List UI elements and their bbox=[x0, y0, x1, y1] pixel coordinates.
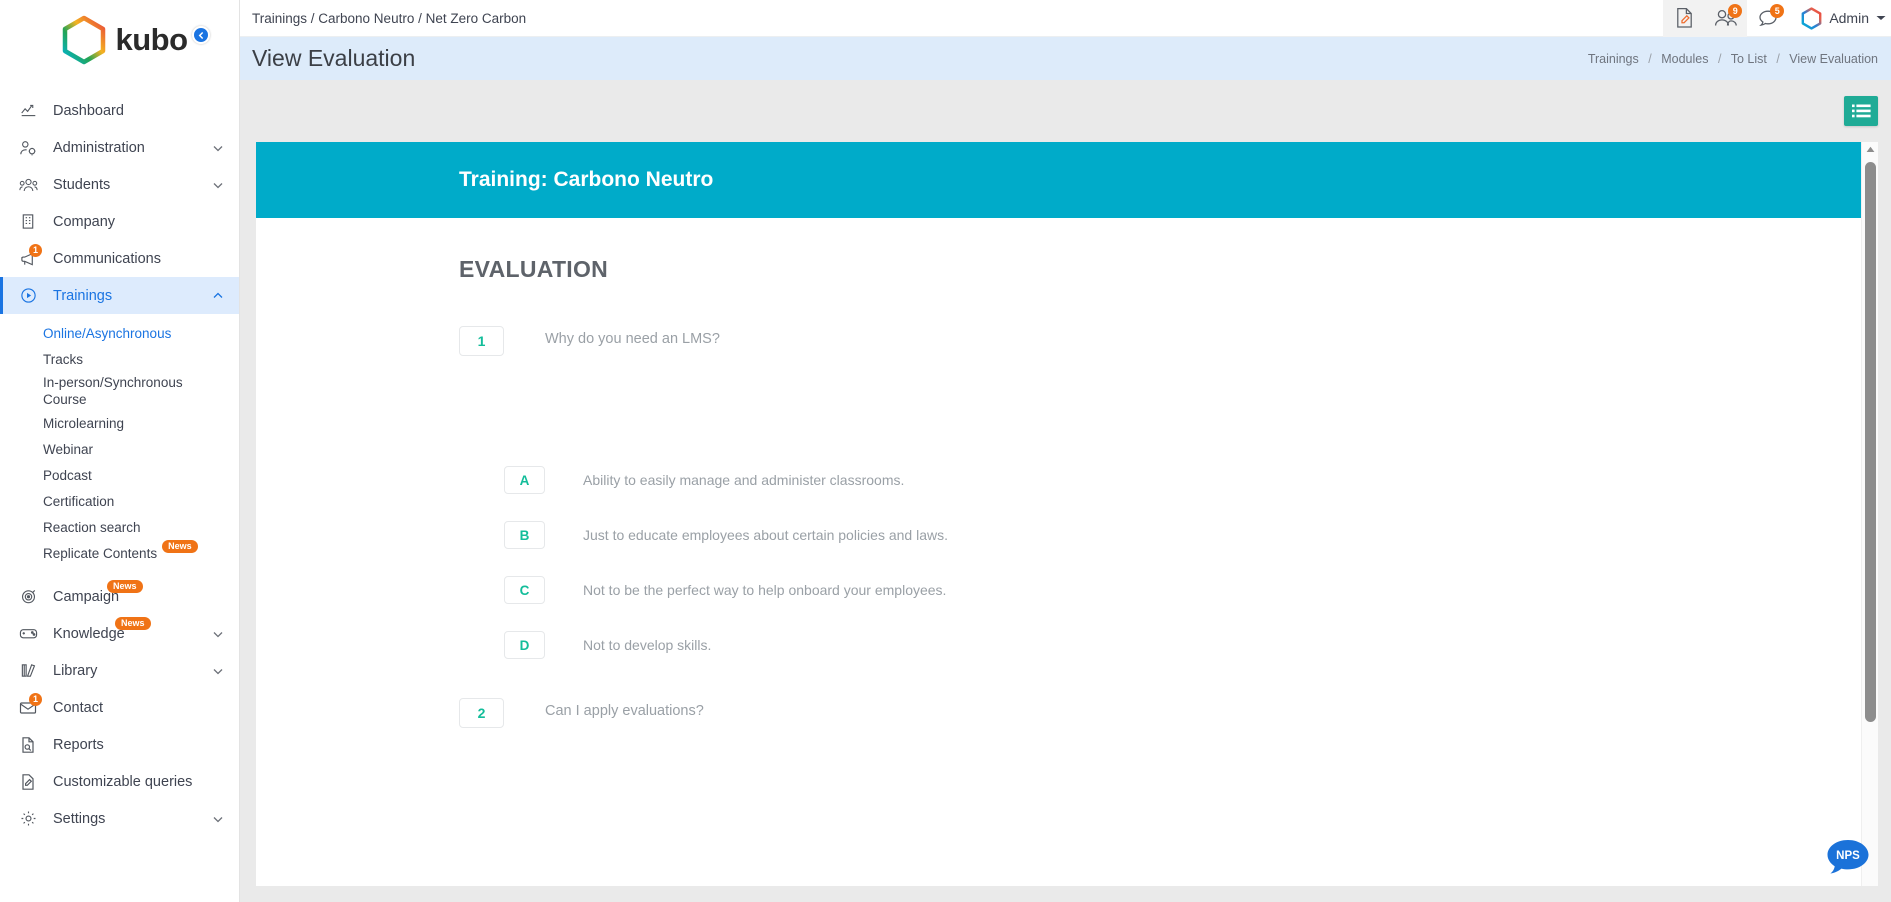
breadcrumb-item-modules[interactable]: Modules bbox=[1661, 52, 1708, 66]
sidebar-item-label: Customizable queries bbox=[53, 774, 225, 790]
sidebar-item-students[interactable]: Students bbox=[0, 166, 239, 203]
chart-line-icon bbox=[16, 101, 40, 121]
sidebar-subitem-label: Tracks bbox=[43, 351, 83, 368]
breadcrumb: Trainings / Modules / To List / View Eva… bbox=[1588, 52, 1878, 66]
sidebar-item-contact[interactable]: 1 Contact bbox=[0, 689, 239, 726]
sidebar-subitem-tracks[interactable]: Tracks bbox=[0, 346, 239, 372]
news-badge: News bbox=[115, 617, 151, 630]
gear-icon bbox=[16, 809, 40, 829]
breadcrumb-separator: / bbox=[1718, 52, 1721, 66]
evaluation-panel-wrap: Training: Carbono Neutro EVALUATION 1 Wh… bbox=[256, 142, 1878, 886]
building-icon bbox=[16, 212, 40, 232]
scroll-up-arrow-icon[interactable] bbox=[1862, 142, 1878, 157]
question-row: 1 Why do you need an LMS? bbox=[459, 326, 1878, 356]
sidebar-subitem-label: Replicate Contents bbox=[43, 545, 157, 562]
question-number: 2 bbox=[459, 698, 504, 728]
page-header: View Evaluation Trainings / Modules / To… bbox=[240, 37, 1891, 80]
chevron-down-icon[interactable] bbox=[211, 812, 225, 826]
main-area: Trainings / Carbono Neutro / Net Zero Ca… bbox=[240, 0, 1891, 902]
notification-badge: 1 bbox=[29, 693, 42, 706]
chat-button[interactable]: 5 bbox=[1747, 0, 1789, 37]
sidebar-item-trainings[interactable]: Trainings bbox=[0, 277, 239, 314]
file-search-icon bbox=[16, 735, 40, 755]
page-title: View Evaluation bbox=[252, 45, 1588, 72]
content-toolbar bbox=[240, 80, 1891, 142]
option-row[interactable]: A Ability to easily manage and administe… bbox=[459, 466, 1878, 494]
sidebar-item-library[interactable]: Library bbox=[0, 652, 239, 689]
user-menu[interactable]: Admin bbox=[1789, 7, 1891, 30]
option-letter: B bbox=[504, 521, 545, 549]
option-text: Not to be the perfect way to help onboar… bbox=[583, 582, 946, 598]
chevron-down-icon[interactable] bbox=[211, 141, 225, 155]
context-path: Trainings / Carbono Neutro / Net Zero Ca… bbox=[240, 11, 1663, 26]
chevron-up-icon[interactable] bbox=[211, 289, 225, 303]
list-view-icon bbox=[1852, 104, 1871, 119]
sidebar-subitem-label: Reaction search bbox=[43, 519, 141, 536]
notification-badge: 1 bbox=[29, 244, 42, 257]
chevron-down-icon[interactable] bbox=[211, 627, 225, 641]
sidebar-item-label: Settings bbox=[53, 811, 211, 827]
user-settings-icon bbox=[16, 138, 40, 158]
sidebar-subnav-trainings: Online/Asynchronous Tracks In-person/Syn… bbox=[0, 314, 239, 566]
top-bar: Trainings / Carbono Neutro / Net Zero Ca… bbox=[240, 0, 1891, 37]
option-letter: D bbox=[504, 631, 545, 659]
sidebar-item-label: Contact bbox=[53, 700, 225, 716]
sidebar-subitem-label: Podcast bbox=[43, 467, 92, 484]
books-icon bbox=[16, 661, 40, 681]
sidebar-item-knowledge[interactable]: Knowledge News bbox=[0, 615, 239, 652]
breadcrumb-item-to-list[interactable]: To List bbox=[1731, 52, 1767, 66]
chat-badge: 5 bbox=[1770, 4, 1784, 18]
training-banner: Training: Carbono Neutro bbox=[256, 142, 1878, 218]
option-row[interactable]: B Just to educate employees about certai… bbox=[459, 521, 1878, 549]
megaphone-icon: 1 bbox=[16, 249, 40, 269]
nps-feedback-button[interactable]: NPS bbox=[1825, 837, 1871, 877]
brand-name: kubo bbox=[115, 22, 187, 58]
option-letter: C bbox=[504, 576, 545, 604]
sidebar-subitem-label: Webinar bbox=[43, 441, 93, 458]
option-row[interactable]: C Not to be the perfect way to help onbo… bbox=[459, 576, 1878, 604]
question-media-placeholder bbox=[459, 356, 1878, 439]
training-banner-title: Training: Carbono Neutro bbox=[459, 168, 713, 192]
hexagon-logo-icon bbox=[61, 15, 107, 65]
chevron-down-icon[interactable] bbox=[211, 664, 225, 678]
news-badge: News bbox=[162, 540, 198, 553]
nps-chat-icon: NPS bbox=[1825, 837, 1871, 877]
breadcrumb-item-trainings[interactable]: Trainings bbox=[1588, 52, 1639, 66]
scroll-thumb[interactable] bbox=[1865, 162, 1876, 722]
sidebar-subitem-replicate-contents[interactable]: Replicate Contents News bbox=[0, 540, 239, 566]
question-number: 1 bbox=[459, 326, 504, 356]
sidebar-item-company[interactable]: Company bbox=[0, 203, 239, 240]
sidebar-item-label: Reports bbox=[53, 737, 225, 753]
evaluation-section-title: EVALUATION bbox=[459, 256, 1878, 283]
top-bar-icons: 9 5 bbox=[1663, 0, 1891, 37]
gamepad-icon bbox=[16, 624, 40, 644]
option-row[interactable]: D Not to develop skills. bbox=[459, 631, 1878, 659]
document-edit-icon bbox=[1675, 7, 1694, 29]
sidebar-item-label: Students bbox=[53, 177, 211, 193]
svg-text:NPS: NPS bbox=[1836, 850, 1860, 862]
sidebar-item-customizable-queries[interactable]: Customizable queries bbox=[0, 763, 239, 800]
sidebar-item-label: Company bbox=[53, 214, 225, 230]
chevron-left-icon bbox=[197, 31, 206, 40]
sidebar-item-settings[interactable]: Settings bbox=[0, 800, 239, 837]
sidebar-collapse-button[interactable] bbox=[192, 26, 210, 44]
news-badge: News bbox=[107, 580, 143, 593]
file-edit-icon bbox=[16, 772, 40, 792]
question-row: 2 Can I apply evaluations? bbox=[459, 698, 1878, 728]
users-group-icon bbox=[16, 175, 40, 195]
play-circle-icon bbox=[16, 286, 40, 306]
sidebar-item-label: Dashboard bbox=[53, 103, 225, 119]
evaluation-body: EVALUATION 1 Why do you need an LMS? A A… bbox=[256, 218, 1878, 728]
sidebar-subitem-webinar[interactable]: Webinar bbox=[0, 436, 239, 462]
sidebar-subitem-label: Microlearning bbox=[43, 415, 124, 432]
sidebar-subitem-label: In-person/Synchronous Course bbox=[43, 374, 193, 408]
sidebar-subitem-in-person-synchronous-course[interactable]: In-person/Synchronous Course bbox=[0, 372, 239, 410]
sidebar-subitem-certification[interactable]: Certification bbox=[0, 488, 239, 514]
caret-down-icon bbox=[1876, 14, 1886, 22]
sidebar-item-label: Trainings bbox=[53, 288, 211, 304]
envelope-icon: 1 bbox=[16, 698, 40, 718]
users-button[interactable]: 9 bbox=[1705, 0, 1747, 37]
sidebar-subitem-online-asynchronous[interactable]: Online/Asynchronous bbox=[0, 320, 239, 346]
sidebar-item-label: Library bbox=[53, 663, 211, 679]
sidebar-item-reports[interactable]: Reports bbox=[0, 726, 239, 763]
sidebar-subitem-label: Online/Asynchronous bbox=[43, 325, 171, 342]
sidebar-item-communications[interactable]: 1 Communications bbox=[0, 240, 239, 277]
user-name: Admin bbox=[1829, 10, 1869, 26]
chevron-down-icon[interactable] bbox=[211, 178, 225, 192]
option-text: Ability to easily manage and administer … bbox=[583, 472, 904, 488]
vertical-scrollbar[interactable] bbox=[1861, 142, 1878, 886]
sidebar-nav: Dashboard Administration bbox=[0, 80, 239, 837]
document-edit-button[interactable] bbox=[1663, 0, 1705, 37]
target-icon bbox=[16, 587, 40, 607]
content-area: Training: Carbono Neutro EVALUATION 1 Wh… bbox=[240, 80, 1891, 902]
sidebar-item-label: Administration bbox=[53, 140, 211, 156]
sidebar-subitem-podcast[interactable]: Podcast bbox=[0, 462, 239, 488]
breadcrumb-separator: / bbox=[1648, 52, 1651, 66]
sidebar-subitem-microlearning[interactable]: Microlearning bbox=[0, 410, 239, 436]
sidebar-item-label: Communications bbox=[53, 251, 225, 267]
breadcrumb-item-view-evaluation: View Evaluation bbox=[1789, 52, 1878, 66]
option-text: Not to develop skills. bbox=[583, 637, 711, 653]
users-badge: 9 bbox=[1728, 4, 1742, 18]
breadcrumb-separator: / bbox=[1776, 52, 1779, 66]
option-text: Just to educate employees about certain … bbox=[583, 527, 948, 543]
option-letter: A bbox=[504, 466, 545, 494]
list-view-button[interactable] bbox=[1844, 96, 1878, 126]
sidebar-item-administration[interactable]: Administration bbox=[0, 129, 239, 166]
sidebar-item-dashboard[interactable]: Dashboard bbox=[0, 92, 239, 129]
app-root: kubo Dashboard Ad bbox=[0, 0, 1891, 902]
sidebar-subitem-label: Certification bbox=[43, 493, 114, 510]
sidebar: kubo Dashboard Ad bbox=[0, 0, 240, 902]
hexagon-avatar-icon bbox=[1801, 7, 1822, 30]
question-text: Why do you need an LMS? bbox=[545, 326, 720, 347]
sidebar-item-campaign[interactable]: Campaign News bbox=[0, 578, 239, 615]
evaluation-panel: Training: Carbono Neutro EVALUATION 1 Wh… bbox=[256, 142, 1878, 886]
question-text: Can I apply evaluations? bbox=[545, 698, 704, 719]
sidebar-subitem-reaction-search[interactable]: Reaction search bbox=[0, 514, 239, 540]
